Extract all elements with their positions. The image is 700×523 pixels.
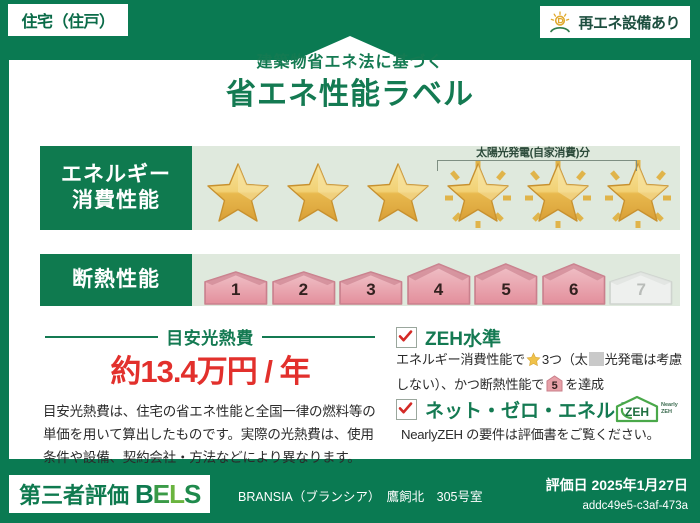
third-party-evaluation-chip: 第三者評価 BELS [9,475,210,513]
property-name: BRANSIA（ブランシア） 鷹飼北 305号室 [238,486,482,505]
grade-value: 7 [608,280,674,300]
grade-badge-filled: 4 [406,262,472,306]
utility-cost-description: 目安光熱費は、住宅の省エネ性能と全国一律の燃料等の単価を用いて算出したものです。… [43,400,377,470]
net-zero-description: NearlyZEH の要件は評価書をご覧ください。 [401,424,691,443]
solar-bracket [437,160,637,171]
zeh-description: エネルギー消費性能で3つ（太光発電は考慮しない）、かつ断熱性能で5を達成 [396,349,686,396]
energy-performance-label: 住宅（住戸） 再エネ設備あり 建築物省エネ法に基づく 省エネ性能ラベル [0,0,700,523]
grade-value: 6 [541,280,607,300]
zeh-logo-subtext: Nearly ZEH [661,402,678,416]
rule-right [262,336,375,338]
renewable-equipment-badge: 再エネ設備あり [540,6,690,38]
grade-badge-filled: 6 [541,262,607,306]
solar-annotation-label: 太陽光発電(自家消費)分 [427,144,639,160]
check-icon [398,401,413,416]
utility-cost-value: 約13.4万円 / 年 [45,346,375,391]
grade-badge-filled: 2 [271,270,337,306]
zeh-standard-row: ZEH水準 [396,324,501,351]
insulation-performance-row: 断熱性能 1 2 3 4 [40,254,680,306]
zeh-checkbox[interactable] [396,327,417,348]
grade-value: 5 [473,280,539,300]
grade-value: 4 [406,280,472,300]
third-party-label: 第三者評価 [19,478,129,510]
star-filled [362,158,434,228]
svg-text:ZEH: ZEH [625,405,649,419]
grade-value: 3 [338,280,404,300]
inline-grade-badge: 5 [546,375,563,392]
grade-badge-filled: 5 [473,262,539,306]
zeh-title: ZEH水準 [425,324,501,351]
insulation-row-body: 1 2 3 4 5 [192,254,680,306]
net-zero-checkbox[interactable] [396,399,417,420]
page-title: 省エネ性能ラベル [9,69,691,113]
grade-scale: 1 2 3 4 5 [203,254,674,306]
evaluation-date: 評価日 2025年1月27日 [546,475,688,495]
evaluation-id: addc49e5-c3af-473a [583,500,689,512]
label-content: 建築物省エネ法に基づく 省エネ性能ラベル エネルギー 消費性能 [9,36,691,459]
zeh-logo: ZEH Nearly ZEH [613,394,685,424]
check-icon [398,329,413,344]
bels-logo: BELS [135,479,200,510]
grade-badge-filled: 3 [338,270,404,306]
renewable-badge-text: 再エネ設備あり [578,12,680,33]
housing-type-chip: 住宅（住戸） [8,4,128,36]
star-filled [202,158,274,228]
sun-icon [548,11,572,33]
redacted-character [589,352,604,366]
inline-star-icon [526,352,541,374]
rule-left [45,336,158,338]
insulation-row-label: 断熱性能 [40,254,192,306]
star-filled [282,158,354,228]
grade-value: 1 [203,280,269,300]
grade-badge-empty: 7 [608,270,674,306]
grade-badge-filled: 1 [203,270,269,306]
grade-value: 2 [271,280,337,300]
housing-type-text: 住宅（住戸） [21,8,114,32]
energy-row-label: エネルギー 消費性能 [40,146,192,230]
